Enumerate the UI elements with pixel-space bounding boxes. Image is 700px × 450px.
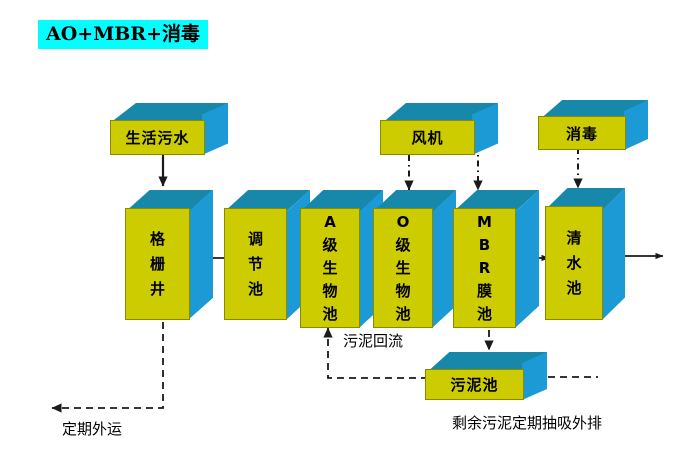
page-title: AO+MBR+消毒 xyxy=(38,20,208,49)
box-disinfect-label: 消毒 xyxy=(566,123,598,144)
box-anoxic-label-face: A 级 生 物 池 xyxy=(300,208,360,328)
box-grate-label-face: 格 栅 井 xyxy=(125,208,190,320)
box-oxic-label: O 级 生 物 池 xyxy=(395,211,410,326)
box-mbr-label: M B R 膜 池 xyxy=(477,211,492,326)
box-clearwell-label: 清 水 池 xyxy=(566,226,581,301)
box-oxic-label-face: O 级 生 物 池 xyxy=(373,208,433,328)
box-influent-label-face: 生活污水 xyxy=(110,120,205,155)
box-sludge-label: 污泥池 xyxy=(450,374,498,395)
box-grate[interactable]: 格 栅 井 xyxy=(125,190,213,320)
flow-diagram-canvas: AO+MBR+消毒 生活污水 风机 消毒 格 栅 井 调 xyxy=(0,0,700,450)
box-mbr[interactable]: M B R 膜 池 xyxy=(453,190,539,328)
box-grate-side-face xyxy=(188,190,213,320)
box-blower-label: 风机 xyxy=(411,127,443,148)
box-influent-label: 生活污水 xyxy=(125,127,189,148)
box-anoxic[interactable]: A 级 生 物 池 xyxy=(300,190,383,328)
box-disinfect-label-face: 消毒 xyxy=(538,116,626,150)
box-sludge-label-face: 污泥池 xyxy=(425,369,524,400)
box-mbr-label-face: M B R 膜 池 xyxy=(453,208,516,328)
label-excess-sludge: 剩余污泥定期抽吸外排 xyxy=(452,412,602,433)
box-grate-label: 格 栅 井 xyxy=(150,227,165,302)
box-oxic[interactable]: O 级 生 物 池 xyxy=(373,190,456,328)
box-anoxic-label: A 级 生 物 池 xyxy=(322,211,337,326)
box-equalize-label: 调 节 池 xyxy=(248,227,263,302)
label-sludge-return: 污泥回流 xyxy=(343,330,403,351)
box-sludge[interactable]: 污泥池 xyxy=(425,352,547,400)
box-clearwell-label-face: 清 水 池 xyxy=(545,206,603,320)
box-clearwell[interactable]: 清 水 池 xyxy=(545,188,625,320)
arrow-grit-haul xyxy=(52,322,163,408)
box-equalize[interactable]: 调 节 池 xyxy=(224,190,310,320)
box-blower-label-face: 风机 xyxy=(380,120,475,155)
box-blower[interactable]: 风机 xyxy=(380,103,498,155)
box-disinfect[interactable]: 消毒 xyxy=(538,100,648,150)
label-grit-haul: 定期外运 xyxy=(62,418,122,439)
box-equalize-label-face: 调 节 池 xyxy=(224,208,287,320)
box-influent[interactable]: 生活污水 xyxy=(110,103,228,155)
box-clearwell-side-face xyxy=(602,188,625,320)
box-mbr-side-face xyxy=(515,190,539,328)
